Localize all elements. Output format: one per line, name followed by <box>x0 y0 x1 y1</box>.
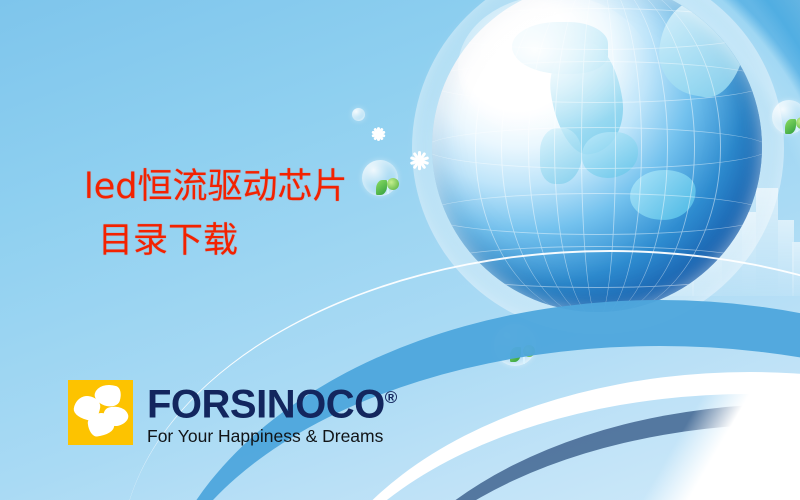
promo-banner: led恒流驱动芯片 目录下载 FORSINOCO® For Your Happi… <box>0 0 800 500</box>
forsinoco-flower-mark-icon <box>68 380 133 445</box>
bubble-icon <box>772 100 800 134</box>
bubble-icon <box>352 108 365 121</box>
band-steel <box>352 404 800 500</box>
corner-white-fill <box>590 390 800 500</box>
registered-trademark-icon: ® <box>385 388 397 407</box>
headline-line-1: led恒流驱动芯片 <box>84 160 504 214</box>
brand-name: FORSINOCO® <box>147 378 397 424</box>
logo-text-block: FORSINOCO® For Your Happiness & Dreams <box>147 378 397 447</box>
bubble-icon <box>494 324 536 366</box>
headline-line-2: 目录下载 <box>84 214 504 268</box>
brand-name-text: FORSINOCO <box>147 382 385 426</box>
company-logo: FORSINOCO® For Your Happiness & Dreams <box>68 378 397 447</box>
headline: led恒流驱动芯片 目录下载 <box>84 160 504 268</box>
daisy-icon <box>372 128 385 141</box>
brand-tagline: For Your Happiness & Dreams <box>147 425 397 447</box>
skyline-building <box>792 242 800 296</box>
